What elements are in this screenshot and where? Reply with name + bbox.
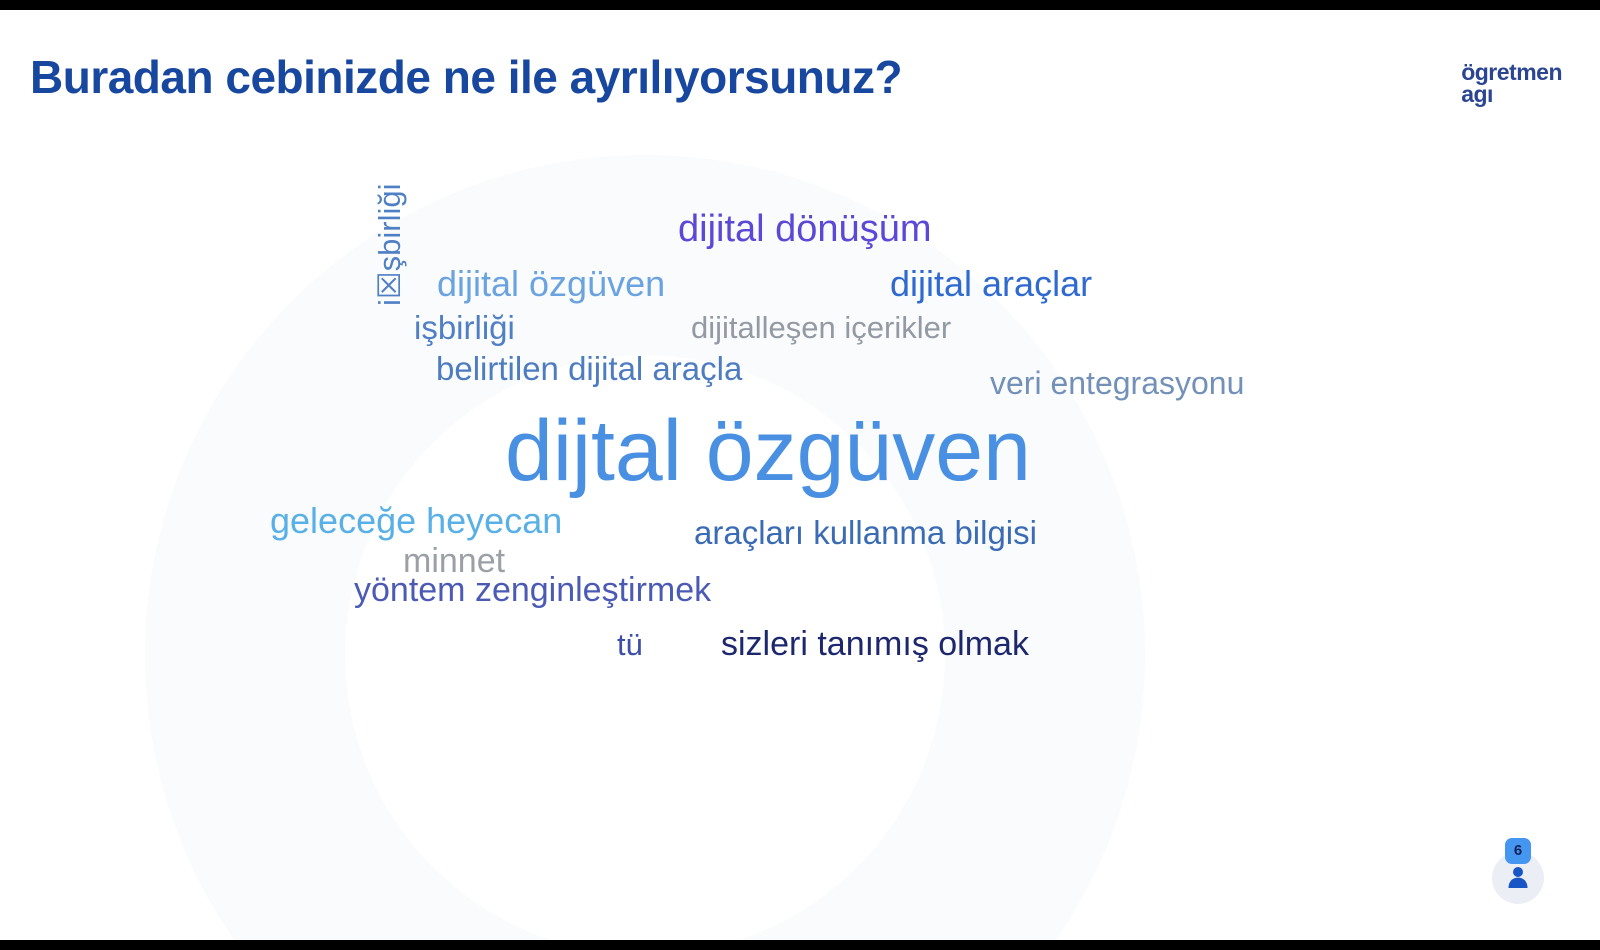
slide-canvas: Buradan cebinizde ne ile ayrılıyorsunuz?… <box>0 10 1600 940</box>
cloud-word: geleceğe heyecan <box>270 503 562 539</box>
cloud-word: dijital dönüşüm <box>678 210 931 248</box>
cloud-word: araçları kullanma bilgisi <box>694 516 1037 549</box>
word-cloud: dijital dönüşümdijital özgüvendijital ar… <box>0 10 1600 940</box>
cloud-word: işbirliği <box>414 311 515 344</box>
cloud-word: dijital özgüven <box>437 266 665 302</box>
letterbox-bottom <box>0 940 1600 950</box>
cloud-word: dijitalleşen içerikler <box>691 312 951 343</box>
cloud-word: dijital araçlar <box>890 266 1092 302</box>
cloud-word: belirtilen dijital araçla <box>436 352 742 385</box>
cloud-word: yöntem zenginleştirmek <box>354 573 711 607</box>
participant-counter: 6 <box>1492 844 1548 900</box>
cloud-word: i☒şbirliği <box>374 183 405 306</box>
slide-root: Buradan cebinizde ne ile ayrılıyorsunuz?… <box>0 0 1600 950</box>
letterbox-top <box>0 0 1600 10</box>
cloud-word: dijtal özgüven <box>505 408 1031 494</box>
participant-count-badge: 6 <box>1505 838 1531 864</box>
cloud-word: veri entegrasyonu <box>990 367 1244 399</box>
cloud-word: tü <box>617 629 643 660</box>
cloud-word: sizleri tanımış olmak <box>721 627 1029 661</box>
person-icon <box>1505 864 1531 890</box>
